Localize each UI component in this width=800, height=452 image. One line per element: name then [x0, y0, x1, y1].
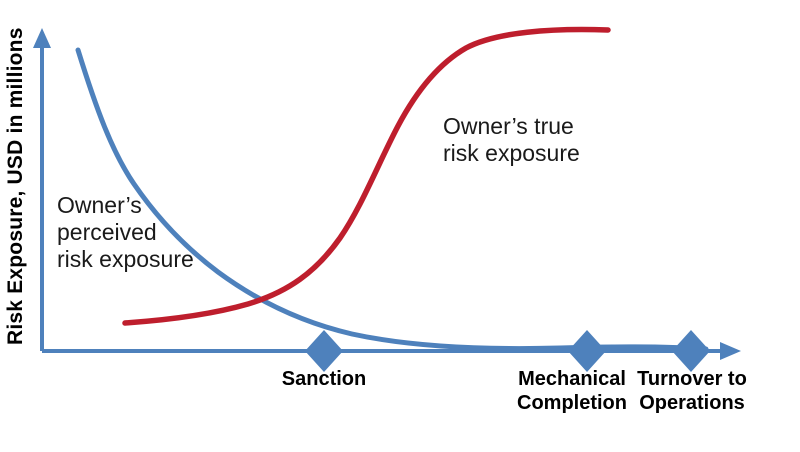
- y-axis-title: Risk Exposure, USD in millions: [4, 27, 28, 345]
- milestone-1-line-2: Completion: [517, 391, 627, 415]
- milestone-label-turnover-to-operations: Turnover to Operations: [637, 367, 747, 416]
- true-risk-curve-label: Owner’s true risk exposure: [443, 113, 580, 167]
- milestone-0-line-1: Sanction: [282, 367, 366, 391]
- milestone-2-line-2: Operations: [637, 391, 747, 415]
- perceived-risk-curve-label: Owner’s perceived risk exposure: [57, 192, 194, 273]
- milestone-2-line-1: Turnover to: [637, 367, 747, 391]
- perceived-label-line-2: perceived: [57, 219, 194, 246]
- diamond-marker-icon-mechanical-completion[interactable]: [568, 330, 606, 372]
- milestone-1-line-1: Mechanical: [517, 367, 627, 391]
- arrow-up-icon: [33, 28, 51, 48]
- diamond-marker-icon-turnover-to-operations[interactable]: [672, 330, 710, 372]
- arrow-right-icon: [720, 342, 741, 360]
- risk-exposure-chart: Risk Exposure, USD in millions Owner’s p…: [0, 0, 800, 452]
- milestone-label-sanction: Sanction: [282, 367, 366, 391]
- true-label-line-2: risk exposure: [443, 140, 580, 167]
- milestone-label-mechanical-completion: Mechanical Completion: [517, 367, 627, 416]
- y-axis: [33, 28, 51, 351]
- perceived-label-line-3: risk exposure: [57, 246, 194, 273]
- perceived-label-line-1: Owner’s: [57, 192, 194, 219]
- diamond-marker-icon-sanction[interactable]: [305, 330, 343, 372]
- true-label-line-1: Owner’s true: [443, 113, 580, 140]
- true-risk-curve: [125, 30, 608, 323]
